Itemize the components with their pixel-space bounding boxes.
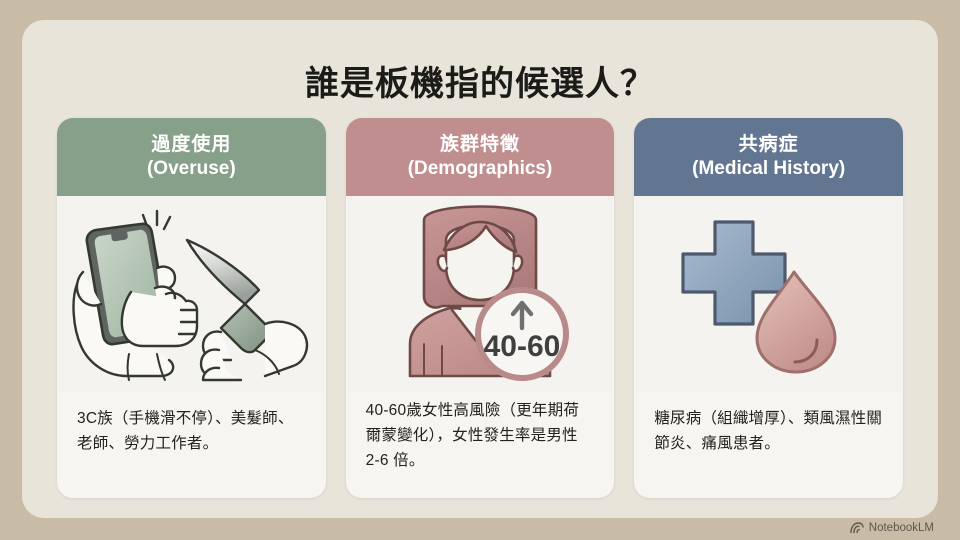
phone-and-knife-hands-icon bbox=[69, 204, 313, 384]
card-list: 過度使用 (Overuse) bbox=[57, 118, 903, 498]
card-header-title-cn: 族群特徵 bbox=[440, 133, 520, 157]
card-demographics[interactable]: 族群特徵 (Demographics) bbox=[346, 118, 615, 498]
medical-cross-and-blood-drop-icon bbox=[669, 204, 869, 384]
watermark: NotebookLM bbox=[850, 522, 934, 534]
card-overuse[interactable]: 過度使用 (Overuse) bbox=[57, 118, 326, 498]
card-body-demographics: 40-60歲女性高風險（更年期荷爾蒙變化），女性發生率是男性 2-6 倍。 bbox=[346, 392, 615, 498]
slide-panel: 誰是板機指的候選人？ 過度使用 (Overuse) bbox=[22, 20, 938, 518]
card-header-title-cn: 過度使用 bbox=[151, 133, 231, 157]
watermark-label: NotebookLM bbox=[869, 522, 934, 534]
age-badge-label: 40-60 bbox=[484, 330, 561, 363]
card-illustration-overuse bbox=[57, 196, 326, 392]
notebooklm-logo-icon bbox=[850, 522, 864, 534]
card-header-overuse: 過度使用 (Overuse) bbox=[57, 118, 326, 196]
card-body-medical-history: 糖尿病（組織增厚）、類風濕性關節炎、痛風患者。 bbox=[634, 392, 903, 498]
slide-root: 誰是板機指的候選人？ 過度使用 (Overuse) bbox=[0, 0, 960, 540]
card-medical-history[interactable]: 共病症 (Medical History) bbox=[634, 118, 903, 498]
card-header-demographics: 族群特徵 (Demographics) bbox=[346, 118, 615, 196]
card-body-overuse: 3C族（手機滑不停）、美髮師、老師、勞力工作者。 bbox=[57, 392, 326, 498]
page-title: 誰是板機指的候選人？ bbox=[22, 64, 938, 105]
card-header-medical-history: 共病症 (Medical History) bbox=[634, 118, 903, 196]
card-illustration-demographics: 40-60 bbox=[346, 196, 615, 392]
card-header-title-en: (Overuse) bbox=[147, 157, 236, 181]
card-illustration-medical-history bbox=[634, 196, 903, 392]
card-header-title-en: (Demographics) bbox=[408, 157, 553, 181]
card-header-title-cn: 共病症 bbox=[739, 133, 799, 157]
card-header-title-en: (Medical History) bbox=[692, 157, 845, 181]
woman-age-badge-icon: 40-60 bbox=[380, 204, 580, 384]
